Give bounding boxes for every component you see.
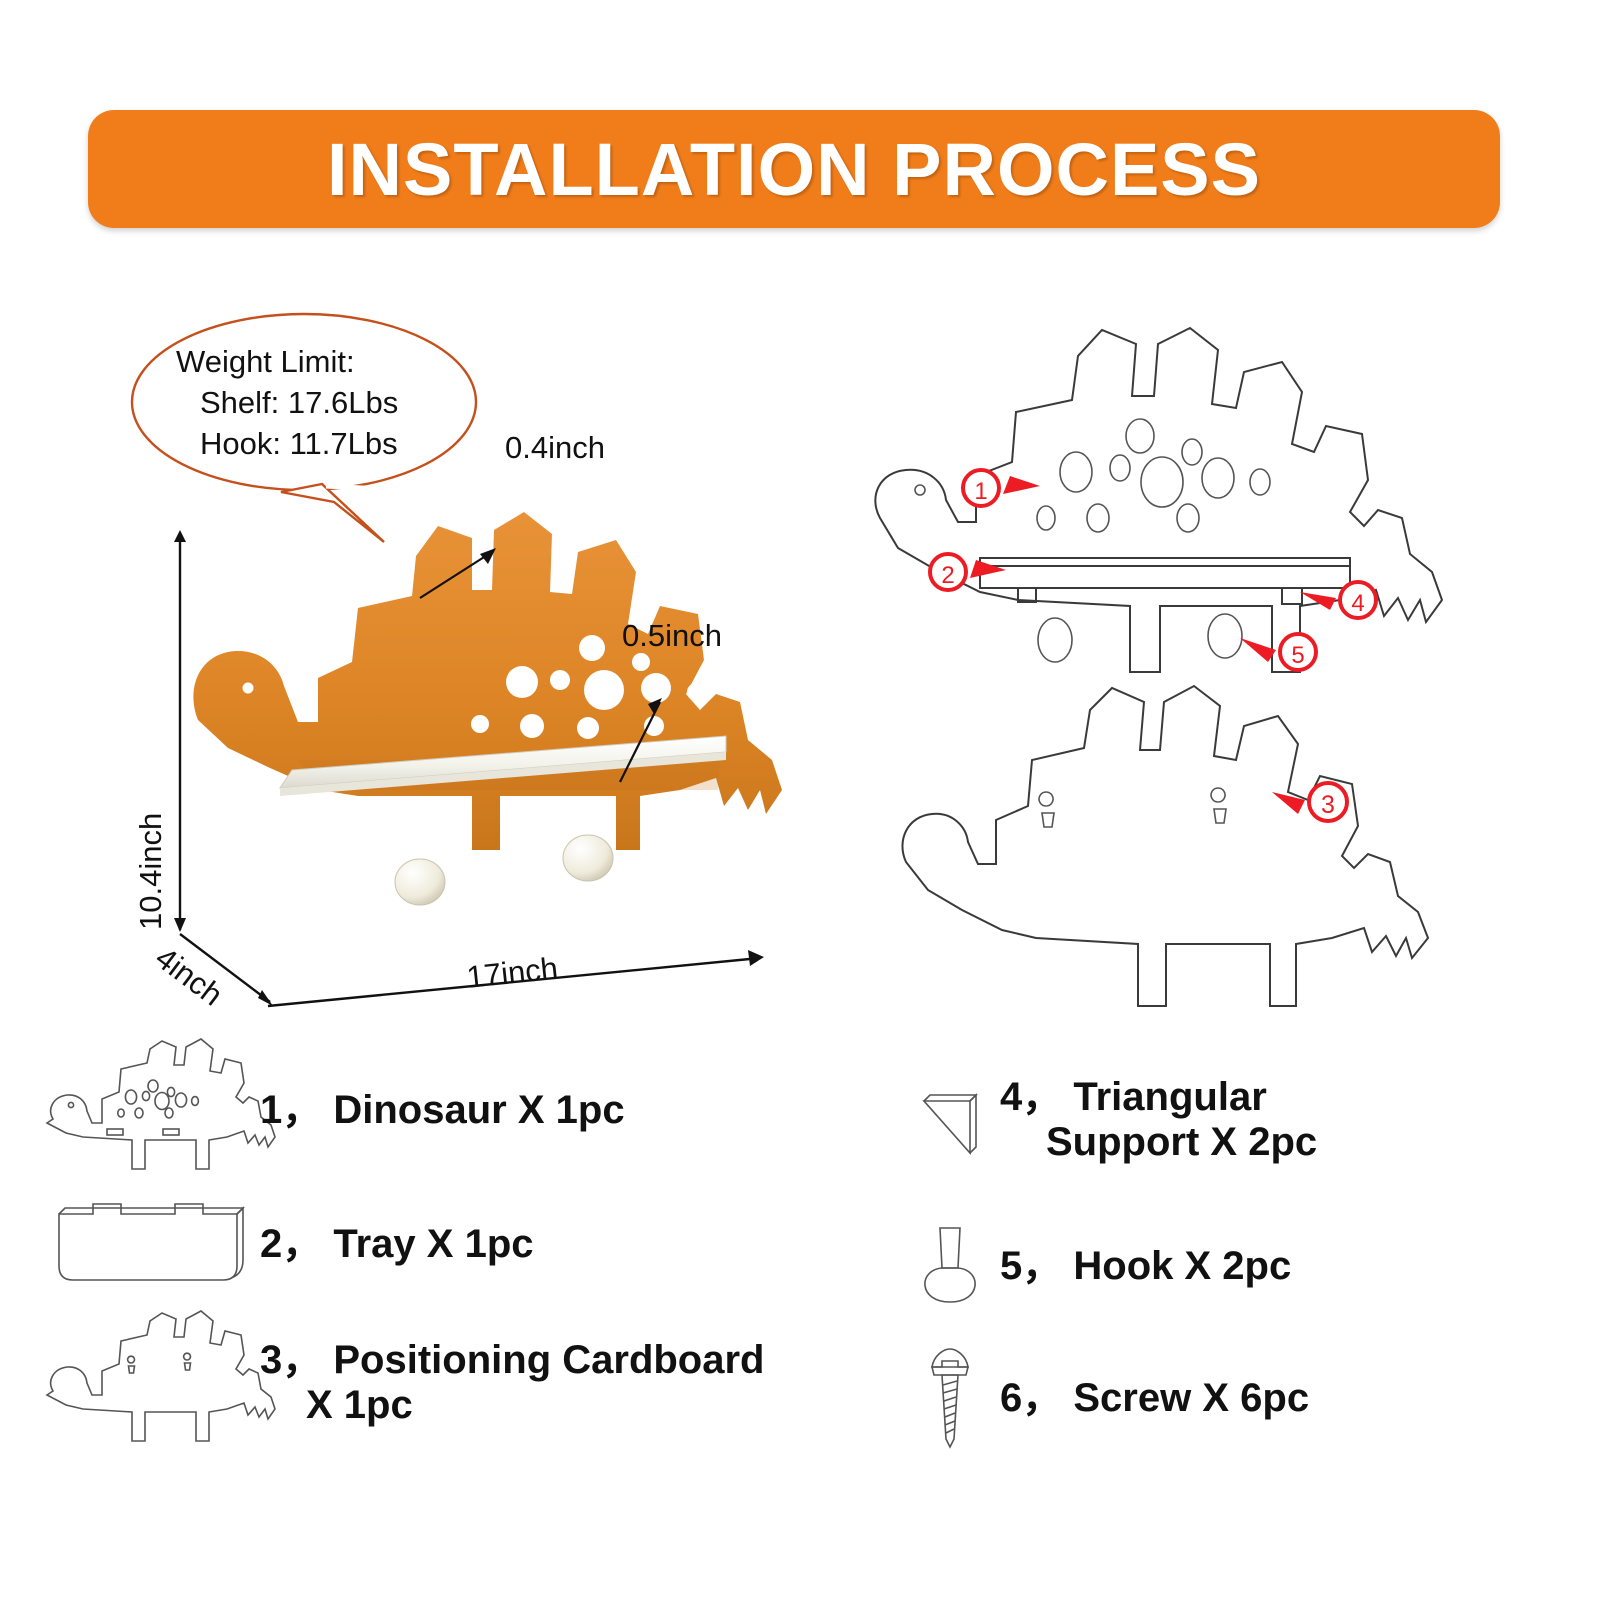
screw-icon bbox=[900, 1343, 1000, 1453]
part-index-5: 5， bbox=[1000, 1244, 1062, 1288]
part-label-triangular-support: 4， Triangular Support X 2pc bbox=[1000, 1075, 1317, 1165]
part-index-4: 4， bbox=[1000, 1075, 1062, 1119]
part-name-2: Tray X 1pc bbox=[333, 1222, 533, 1266]
assembly-diagram-top: 1 2 4 5 bbox=[840, 300, 1580, 700]
part-item-triangular-support: 4， Triangular Support X 2pc bbox=[900, 1040, 1560, 1200]
svg-text:5: 5 bbox=[1291, 642, 1304, 669]
triangle-support-icon bbox=[900, 1075, 1000, 1165]
svg-text:3: 3 bbox=[1321, 791, 1335, 819]
callout-marker-1: 1 bbox=[963, 470, 1040, 506]
page-title: INSTALLATION PROCESS bbox=[327, 127, 1261, 212]
parts-list-right-column: 4， Triangular Support X 2pc 5， Hook X 2p… bbox=[900, 1040, 1560, 1464]
weight-limit-line-1: Weight Limit: bbox=[176, 342, 496, 383]
weight-limit-callout: Weight Limit: Shelf: 17.6Lbs Hook: 11.7L… bbox=[126, 306, 526, 556]
tray-side-view bbox=[980, 558, 1350, 604]
part-item-hook: 5， Hook X 2pc bbox=[900, 1200, 1560, 1332]
keyhole-slots bbox=[1039, 788, 1226, 827]
part-label-dinosaur: 1， Dinosaur X 1pc bbox=[260, 1088, 625, 1133]
part-label-hook: 5， Hook X 2pc bbox=[1000, 1244, 1291, 1289]
part-name-4: Triangular bbox=[1073, 1075, 1266, 1119]
dimension-height-label: 10.4inch bbox=[133, 813, 169, 930]
part-item-tray: 2， Tray X 1pc bbox=[40, 1180, 880, 1308]
cardboard-outline: 3 bbox=[900, 690, 1520, 1050]
part-index-3: 3， bbox=[260, 1338, 322, 1382]
hook-knobs bbox=[395, 835, 613, 905]
part-label-tray: 2， Tray X 1pc bbox=[260, 1222, 534, 1267]
dinosaur-eye bbox=[243, 683, 254, 694]
part-name-5: Hook X 2pc bbox=[1073, 1244, 1291, 1288]
assembly-diagram-bottom: 3 bbox=[900, 690, 1520, 1050]
svg-text:4: 4 bbox=[1351, 590, 1364, 617]
installation-diagram-page: INSTALLATION PROCESS bbox=[0, 0, 1600, 1600]
part-name-3-line2: X 1pc bbox=[260, 1383, 765, 1428]
weight-limit-line-3: Hook: 11.7Lbs bbox=[176, 424, 496, 465]
part-label-screw: 6， Screw X 6pc bbox=[1000, 1376, 1309, 1421]
weight-limit-text: Weight Limit: Shelf: 17.6Lbs Hook: 11.7L… bbox=[176, 342, 496, 465]
hook-icon bbox=[900, 1216, 1000, 1316]
callout-marker-2: 2 bbox=[930, 554, 1006, 590]
part-name-1: Dinosaur X 1pc bbox=[333, 1088, 624, 1132]
part-item-screw: 6， Screw X 6pc bbox=[900, 1332, 1560, 1464]
dimension-shelf-label: 0.5inch bbox=[622, 618, 722, 654]
tray-outline-icon bbox=[40, 1194, 260, 1294]
weight-limit-line-2: Shelf: 17.6Lbs bbox=[176, 383, 496, 424]
parts-list-left-column: 1， Dinosaur X 1pc 2， Tray X 1pc bbox=[40, 1040, 880, 1458]
part-index-1: 1， bbox=[260, 1088, 322, 1132]
part-name-4-line2: Support X 2pc bbox=[1000, 1120, 1317, 1165]
part-index-6: 6， bbox=[1000, 1376, 1062, 1420]
part-item-cardboard: 3， Positioning Cardboard X 1pc bbox=[40, 1308, 880, 1458]
svg-text:1: 1 bbox=[974, 478, 987, 505]
part-name-6: Screw X 6pc bbox=[1073, 1376, 1309, 1420]
hook-holes bbox=[1038, 614, 1242, 662]
part-name-3: Positioning Cardboard bbox=[333, 1338, 764, 1382]
parts-list: 1， Dinosaur X 1pc 2， Tray X 1pc bbox=[40, 1040, 1560, 1470]
part-label-cardboard: 3， Positioning Cardboard X 1pc bbox=[260, 1338, 765, 1428]
part-index-2: 2， bbox=[260, 1222, 322, 1266]
callout-marker-5: 5 bbox=[1240, 634, 1316, 670]
part-item-dinosaur: 1， Dinosaur X 1pc bbox=[40, 1040, 880, 1180]
callout-marker-3: 3 bbox=[1272, 783, 1347, 821]
dinosaur-outline-icon bbox=[40, 1045, 260, 1175]
header-banner: INSTALLATION PROCESS bbox=[88, 110, 1500, 228]
svg-text:2: 2 bbox=[941, 562, 954, 589]
assembly-outline: 1 2 4 5 bbox=[840, 300, 1580, 700]
cardboard-outline-icon bbox=[40, 1313, 260, 1453]
